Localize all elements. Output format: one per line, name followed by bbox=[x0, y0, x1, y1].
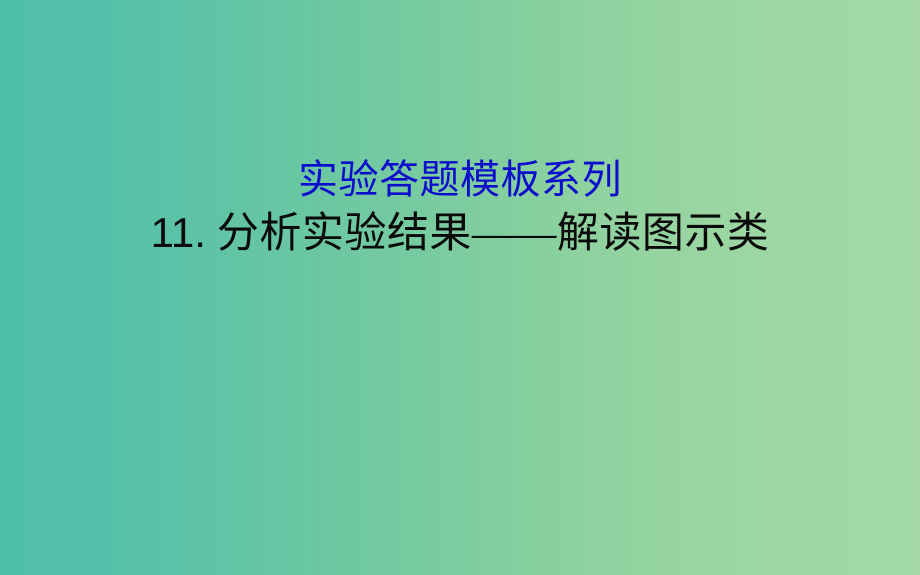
title-numeral: 11. bbox=[151, 209, 206, 256]
series-heading: 实验答题模板系列 bbox=[0, 160, 920, 200]
background-gradient bbox=[0, 0, 920, 575]
title-text: 分析实验结果——解读图示类 bbox=[206, 211, 770, 257]
page-title: 11. 分析实验结果——解读图示类 bbox=[0, 212, 920, 255]
slide-canvas: 实验答题模板系列 11. 分析实验结果——解读图示类 bbox=[0, 0, 920, 575]
title-block: 实验答题模板系列 11. 分析实验结果——解读图示类 bbox=[0, 160, 920, 255]
